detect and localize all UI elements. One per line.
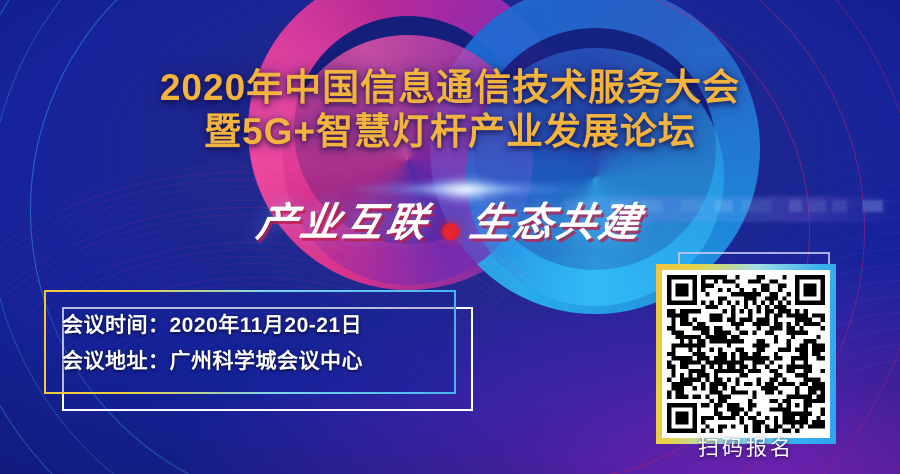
- title-line-1: 2020年中国信息通信技术服务大会: [0, 66, 900, 110]
- event-info-box: 会议时间：2020年11月20-21日 会议地址：广州科学城会议中心: [44, 290, 456, 394]
- subtitle-right: 生态共建: [465, 190, 647, 248]
- event-address: 会议地址：广州科学城会议中心: [62, 345, 454, 375]
- title-line-2: 暨5G+智慧灯杆产业发展论坛: [0, 110, 900, 154]
- qr-label: 扫码报名: [656, 432, 836, 462]
- qr-code-inner: [662, 270, 830, 438]
- qr-code-block[interactable]: [656, 264, 836, 444]
- subtitle-left: 产业互联: [252, 190, 434, 248]
- separator-dot-icon: [442, 223, 459, 240]
- event-time: 会议时间：2020年11月20-21日: [62, 309, 454, 339]
- banner-content: 2020年中国信息通信技术服务大会 暨5G+智慧灯杆产业发展论坛 产业互联生态共…: [0, 0, 900, 474]
- banner-subtitle: 产业互联生态共建: [0, 190, 900, 248]
- banner-title: 2020年中国信息通信技术服务大会 暨5G+智慧灯杆产业发展论坛: [0, 66, 900, 154]
- qr-code-icon[interactable]: [667, 275, 825, 433]
- conference-banner: 2020年中国信息通信技术服务大会 暨5G+智慧灯杆产业发展论坛 产业互联生态共…: [0, 0, 900, 474]
